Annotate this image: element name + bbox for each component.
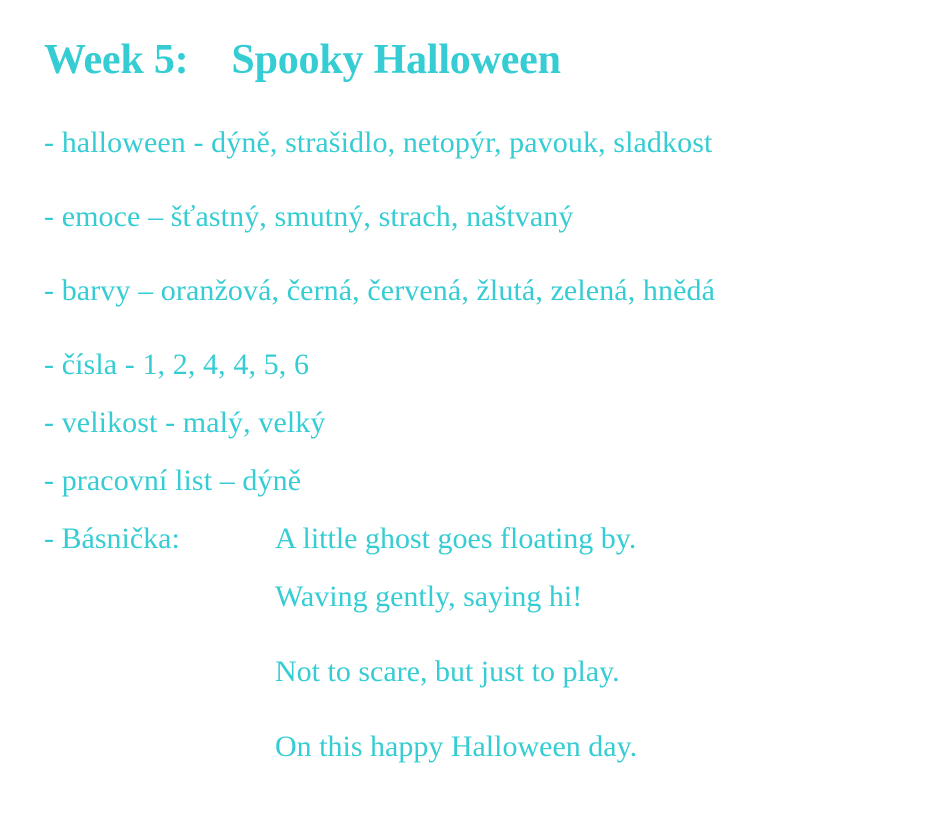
poem-section: - Básnička: A little ghost goes floating… <box>44 524 914 762</box>
slide-canvas: Week 5: Spooky Halloween - halloween - d… <box>0 0 940 813</box>
title-topic: Spooky Halloween <box>231 38 560 82</box>
list-item-colors: - barvy – oranžová, černá, červená, žlut… <box>44 276 914 306</box>
page-title: Week 5: Spooky Halloween <box>44 38 561 82</box>
list-item-emotions: - emoce – šťastný, smutný, strach, naštv… <box>44 202 914 232</box>
list-item-worksheet: - pracovní list – dýně <box>44 466 914 496</box>
content-list: - halloween - dýně, strašidlo, netopýr, … <box>44 128 914 762</box>
poem-verses: A little ghost goes floating by. Waving … <box>275 524 637 762</box>
poem-line-3: Not to scare, but just to play. <box>275 657 637 687</box>
poem-line-1: A little ghost goes floating by. <box>275 524 637 554</box>
list-item-size: - velikost - malý, velký <box>44 408 914 438</box>
list-item-vocabulary: - halloween - dýně, strašidlo, netopýr, … <box>44 128 914 158</box>
title-week-label: Week 5: <box>44 38 188 82</box>
poem-line-2: Waving gently, saying hi! <box>275 582 637 612</box>
poem-line-4: On this happy Halloween day. <box>275 732 637 762</box>
poem-label: - Básnička: <box>44 524 275 554</box>
list-item-numbers: - čísla - 1, 2, 4, 4, 5, 6 <box>44 350 914 380</box>
